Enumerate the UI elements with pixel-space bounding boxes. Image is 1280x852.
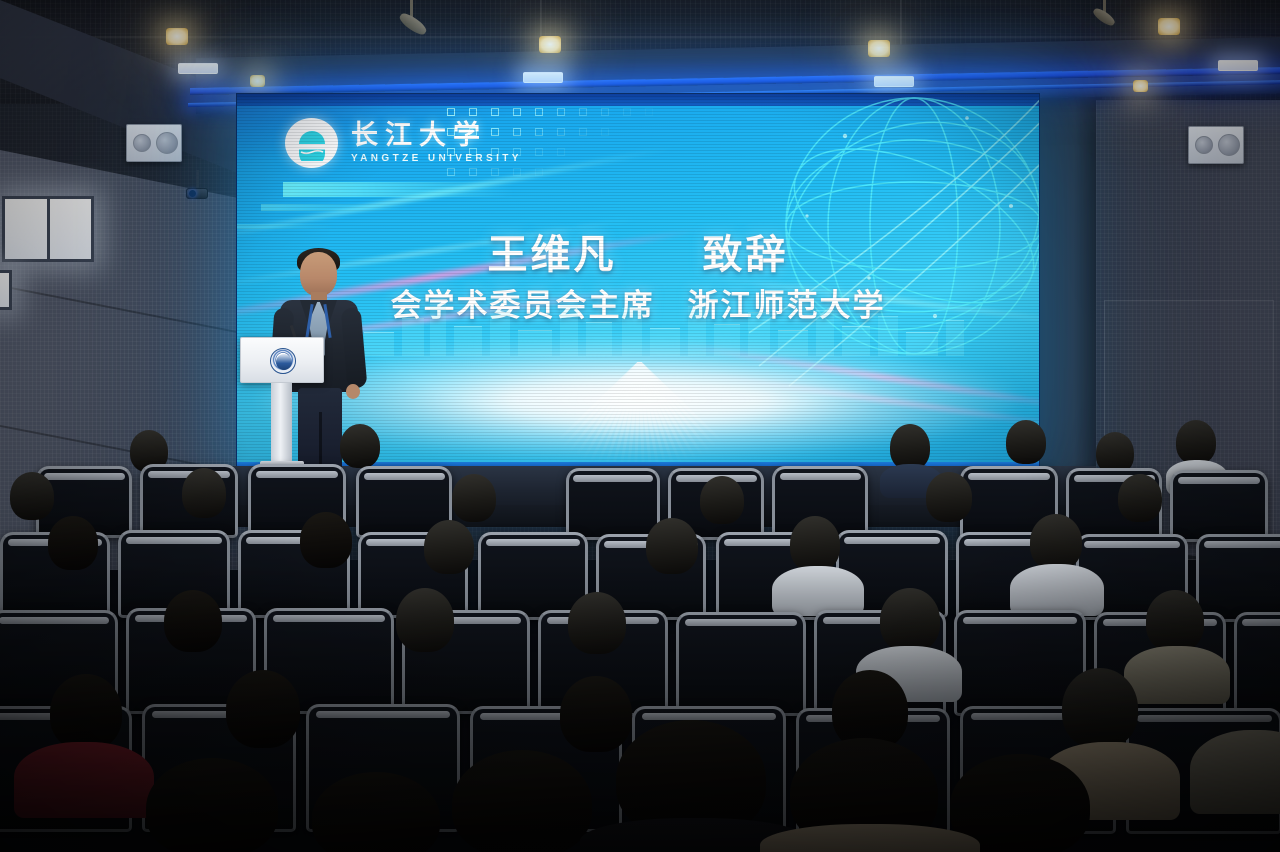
audience-head xyxy=(10,472,54,520)
ceiling-spotlight xyxy=(1133,80,1148,92)
auditorium-photo: 长江大学 YANGTZE UNIVERSITY 王维凡 致辞 会学术委员会主席 … xyxy=(0,0,1280,852)
audience-head xyxy=(880,588,940,652)
audience-head xyxy=(1062,668,1138,748)
ceiling-light-bar xyxy=(178,63,218,74)
podium-front-panel xyxy=(240,337,324,383)
ceiling-spotlight xyxy=(868,40,890,57)
audience-head xyxy=(790,516,840,572)
audience-head xyxy=(700,476,744,524)
audience-shoulders xyxy=(772,566,864,616)
audience-head-foreground xyxy=(146,758,278,852)
audience-head xyxy=(568,592,626,654)
audience-head xyxy=(164,590,222,652)
security-camera-arm xyxy=(196,170,199,190)
audience-seat xyxy=(1196,534,1280,622)
decorative-bar xyxy=(283,182,513,197)
ceiling-spotlight xyxy=(1158,18,1180,35)
window xyxy=(0,270,12,310)
audience-head xyxy=(182,468,226,518)
audience-seat xyxy=(566,468,660,540)
audience-head xyxy=(50,674,122,750)
podium-university-seal-icon xyxy=(270,348,296,374)
audience-head xyxy=(1118,474,1162,522)
ceiling-light-bar xyxy=(1218,60,1258,71)
university-name-en: YANGTZE UNIVERSITY xyxy=(351,153,522,164)
decorative-bar xyxy=(261,204,411,211)
wall-speaker xyxy=(126,124,182,162)
audience-head xyxy=(560,676,632,752)
security-camera-lens-icon xyxy=(189,190,196,197)
audience-head xyxy=(340,424,380,468)
ceiling-light-bar xyxy=(874,76,914,87)
ceiling-spotlight xyxy=(250,75,265,87)
audience-head xyxy=(396,588,454,652)
audience-head xyxy=(926,472,972,522)
window xyxy=(2,196,94,262)
yangtze-university-emblem-icon xyxy=(285,118,338,168)
audience-head xyxy=(1176,420,1216,464)
audience-head xyxy=(646,518,698,574)
audience-shoulders xyxy=(14,742,154,818)
audience-head xyxy=(1030,514,1082,570)
audience-shoulders xyxy=(1190,730,1280,814)
audience-seat xyxy=(676,612,806,716)
ceiling-light-bar xyxy=(523,72,563,83)
audience-shoulders xyxy=(1124,646,1230,704)
audience-head xyxy=(452,474,496,522)
audience-seat xyxy=(1170,470,1268,542)
presenter-head xyxy=(300,252,337,296)
wall-speaker xyxy=(1188,126,1244,164)
presenter-hand xyxy=(346,384,360,399)
audience-head xyxy=(48,516,98,570)
audience-head xyxy=(424,520,474,574)
audience-head xyxy=(1006,420,1046,464)
audience-seat xyxy=(1234,612,1280,718)
audience-head xyxy=(1146,590,1204,652)
university-logo-lockup: 长江大学 YANGTZE UNIVERSITY xyxy=(285,118,522,168)
audience-shoulders xyxy=(1010,564,1104,616)
audience-head-foreground xyxy=(452,750,592,852)
ceiling-spotlight xyxy=(539,36,561,53)
audience-rows xyxy=(0,420,1280,852)
audience-head xyxy=(226,670,300,748)
audience-head xyxy=(300,512,352,568)
university-name-cn: 长江大学 xyxy=(351,122,522,149)
ceiling-spotlight xyxy=(166,28,188,45)
podium-seal-inner xyxy=(276,354,292,370)
